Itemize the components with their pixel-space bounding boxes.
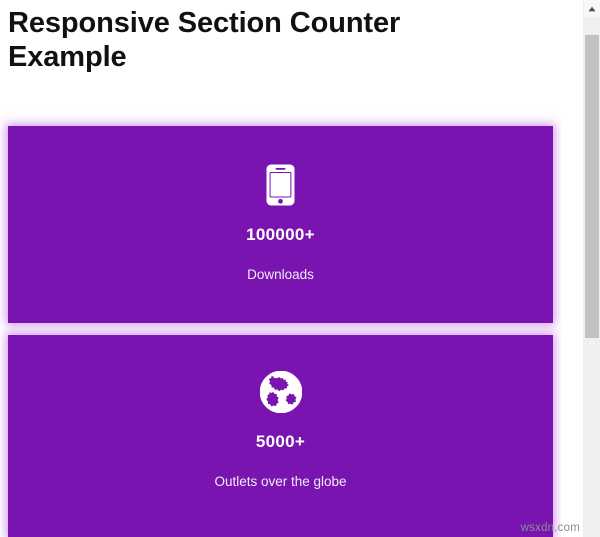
mobile-phone-icon	[8, 163, 553, 207]
globe-icon	[8, 370, 553, 414]
counter-value: 5000+	[8, 432, 553, 452]
scrollbar-thumb[interactable]	[585, 35, 599, 338]
page-title: Responsive Section Counter Example	[0, 0, 446, 74]
counter-card-downloads[interactable]: 100000+ Downloads	[8, 126, 553, 323]
counter-value: 100000+	[8, 225, 553, 245]
counter-card-outlets[interactable]: 5000+ Outlets over the globe	[8, 335, 553, 537]
watermark: wsxdn.com	[521, 522, 580, 534]
vertical-scrollbar[interactable]	[583, 0, 600, 537]
scrollbar-track[interactable]	[584, 17, 600, 537]
scroll-up-arrow-icon[interactable]	[584, 0, 600, 17]
counter-label: Downloads	[8, 267, 553, 282]
counter-sections: 100000+ Downloads 5000+ Outlets over	[8, 126, 553, 537]
counter-label: Outlets over the globe	[8, 474, 553, 489]
page-viewport: Responsive Section Counter Example 10000…	[0, 0, 561, 537]
